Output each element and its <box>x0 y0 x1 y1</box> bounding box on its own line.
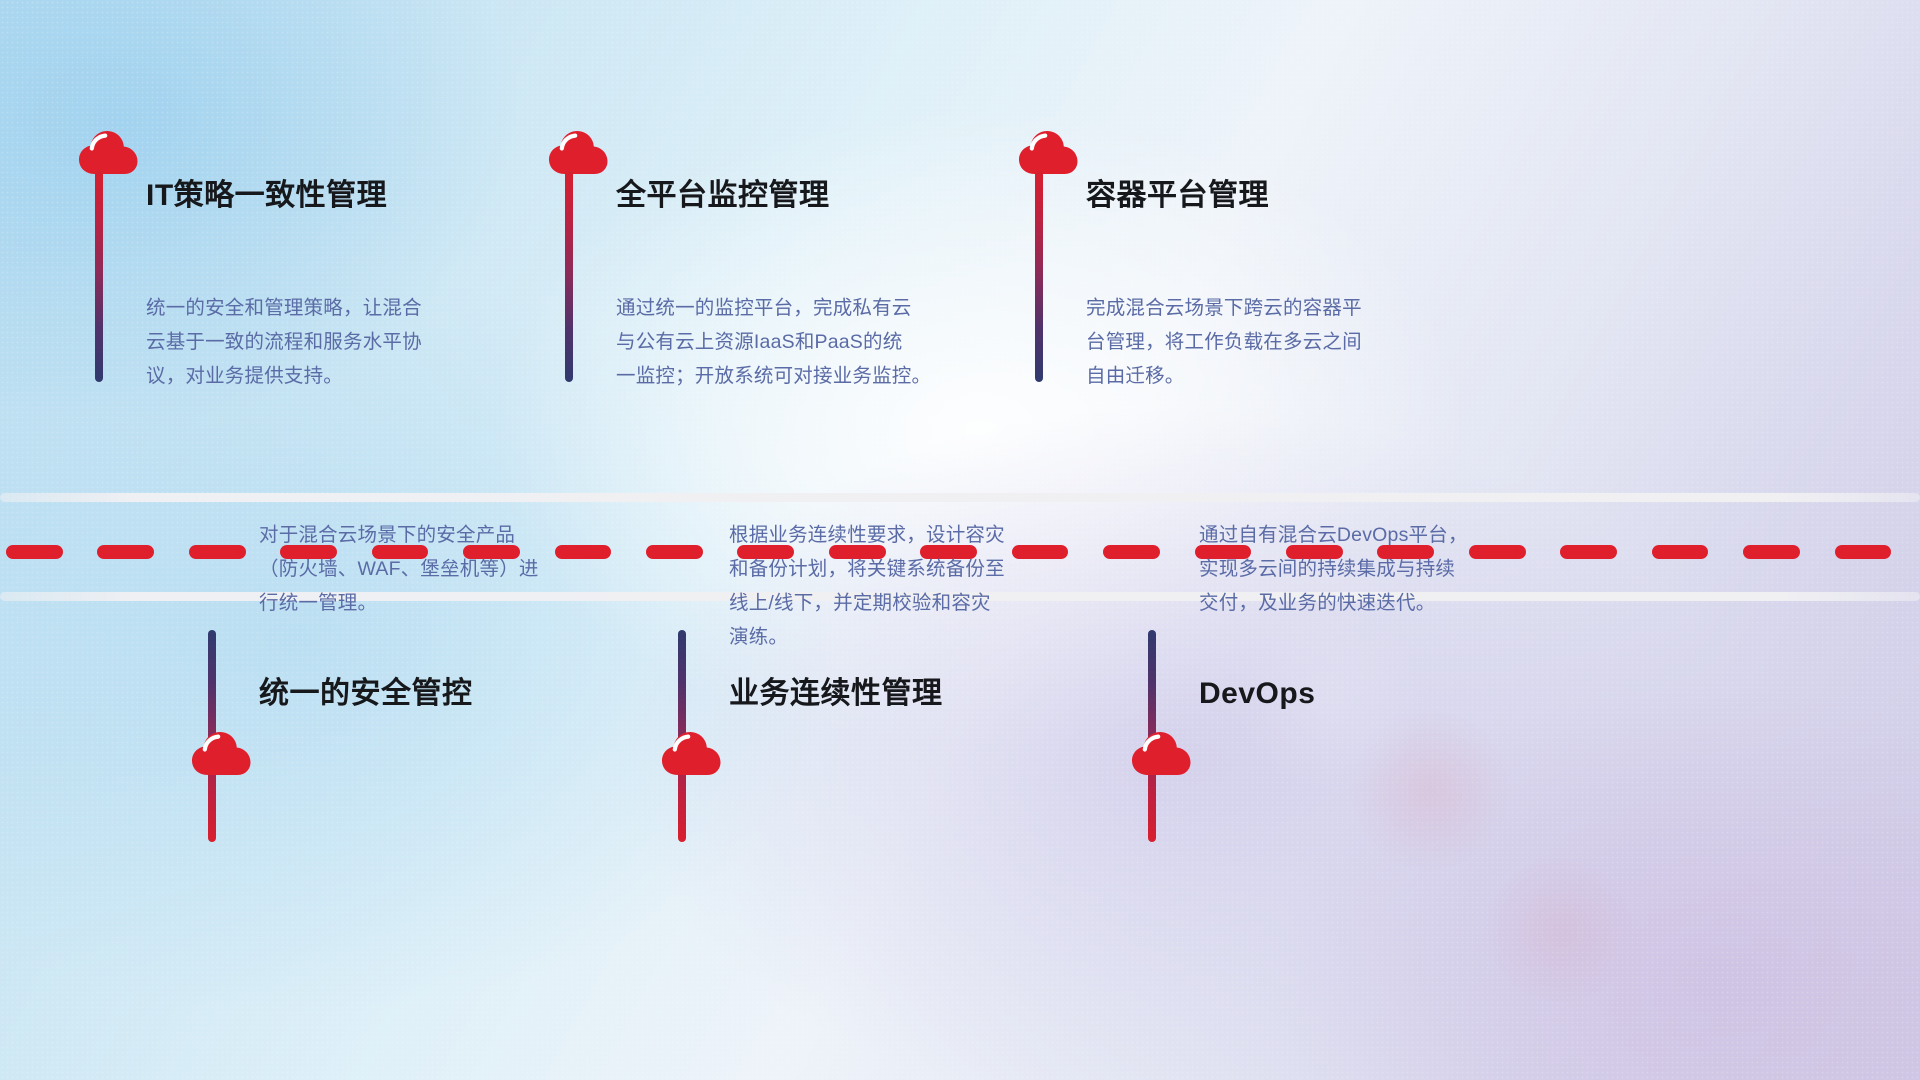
body-line: 演练。 <box>729 620 1119 654</box>
divider-line-upper <box>0 493 1920 502</box>
card-title: 全平台监控管理 <box>616 178 830 214</box>
body-line: 一监控；开放系统可对接业务监控。 <box>616 359 1016 393</box>
body-line: 与公有云上资源IaaS和PaaS的统 <box>616 325 1016 359</box>
body-line: 线上/线下，并定期校验和容灾 <box>729 586 1119 620</box>
connector-stem <box>565 170 573 382</box>
connector-stem <box>1035 170 1043 382</box>
card-title: 容器平台管理 <box>1086 178 1269 214</box>
card-title: 统一的安全管控 <box>259 676 473 712</box>
cloud-icon <box>191 731 253 776</box>
divider-dash <box>6 545 63 559</box>
body-line: 议，对业务提供支持。 <box>146 359 526 393</box>
body-line: 对于混合云场景下的安全产品 <box>259 518 639 552</box>
infographic-canvas: IT策略一致性管理 统一的安全和管理策略，让混合 云基于一致的流程和服务水平协 … <box>0 0 1920 1080</box>
card-body: 对于混合云场景下的安全产品 （防火墙、WAF、堡垒机等）进 行统一管理。 <box>259 518 639 620</box>
connector-stem <box>95 170 103 382</box>
body-line: 根据业务连续性要求，设计容灾 <box>729 518 1119 552</box>
card-body: 通过统一的监控平台，完成私有云 与公有云上资源IaaS和PaaS的统 一监控；开… <box>616 291 1016 393</box>
cloud-icon <box>661 731 723 776</box>
divider-dash <box>97 545 154 559</box>
body-line: 通过统一的监控平台，完成私有云 <box>616 291 1016 325</box>
cloud-icon <box>78 130 140 175</box>
cloud-icon <box>1131 731 1193 776</box>
body-line: 通过自有混合云DevOps平台， <box>1199 518 1569 552</box>
divider-dash <box>1835 545 1892 559</box>
body-line: 自由迁移。 <box>1086 359 1476 393</box>
divider-dash <box>646 545 703 559</box>
card-title: IT策略一致性管理 <box>146 178 387 214</box>
card-title: DevOps <box>1199 676 1315 712</box>
body-line: 交付，及业务的快速迭代。 <box>1199 586 1569 620</box>
body-line: 台管理，将工作负载在多云之间 <box>1086 325 1476 359</box>
cloud-icon <box>1018 130 1080 175</box>
cloud-icon <box>548 130 610 175</box>
card-body: 通过自有混合云DevOps平台， 实现多云间的持续集成与持续 交付，及业务的快速… <box>1199 518 1569 620</box>
body-line: 行统一管理。 <box>259 586 639 620</box>
body-line: 和备份计划，将关键系统备份至 <box>729 552 1119 586</box>
body-line: 云基于一致的流程和服务水平协 <box>146 325 526 359</box>
divider-dash <box>189 545 246 559</box>
body-line: 实现多云间的持续集成与持续 <box>1199 552 1569 586</box>
body-line: （防火墙、WAF、堡垒机等）进 <box>259 552 639 586</box>
divider-dash <box>1652 545 1709 559</box>
divider-dash <box>1743 545 1800 559</box>
body-line: 统一的安全和管理策略，让混合 <box>146 291 526 325</box>
card-body: 统一的安全和管理策略，让混合 云基于一致的流程和服务水平协 议，对业务提供支持。 <box>146 291 526 393</box>
card-title: 业务连续性管理 <box>729 676 943 712</box>
body-line: 完成混合云场景下跨云的容器平 <box>1086 291 1476 325</box>
card-body: 根据业务连续性要求，设计容灾 和备份计划，将关键系统备份至 线上/线下，并定期校… <box>729 518 1119 654</box>
card-body: 完成混合云场景下跨云的容器平 台管理，将工作负载在多云之间 自由迁移。 <box>1086 291 1476 393</box>
